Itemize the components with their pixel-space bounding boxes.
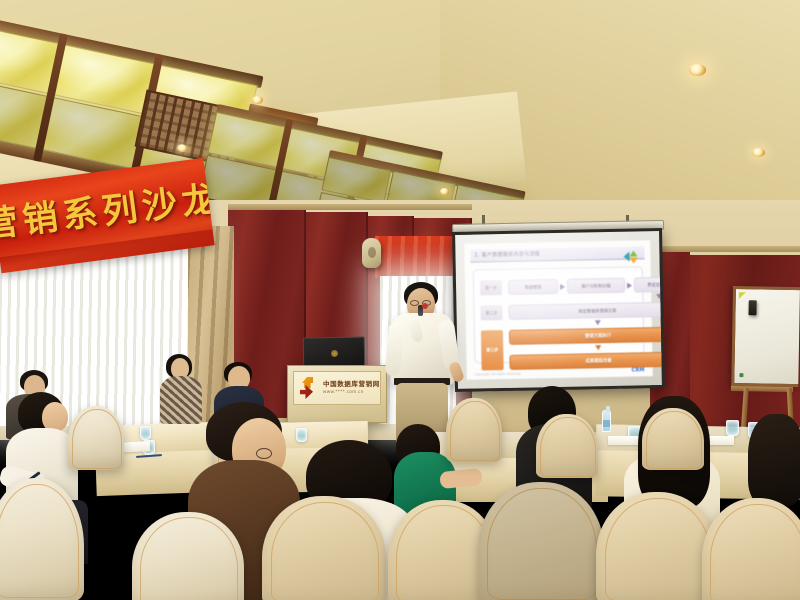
chair-mid-3	[446, 398, 502, 462]
flow-box-3-1: 营销方案执行	[509, 327, 665, 345]
stage-chip-3: 第三步	[481, 330, 504, 370]
recessed-downlight-1	[689, 64, 706, 76]
chair-mid-1	[68, 406, 124, 470]
flow-arrow-down-3	[595, 345, 601, 350]
lectern-sign-text: 中国数据库营销网	[323, 381, 380, 388]
water-bottle-1	[602, 410, 611, 432]
slide-brand-logo: CRM	[632, 367, 645, 373]
attendee-fr-hair	[748, 414, 800, 506]
projection-screen: 1. 客户数据服务内容与流程 第一步 数据整理 客户分析和分级 界定目标客户 第…	[452, 228, 665, 392]
lectern-sign-url: www.****.com.cn	[323, 390, 380, 395]
wall-speaker-icon	[362, 238, 381, 268]
flow-box-1-1: 数据整理	[508, 279, 558, 295]
slide-title-bar: 1. 客户数据服务内容与流程	[470, 246, 644, 262]
flow-box-1-3: 界定目标客户	[634, 277, 665, 293]
stage-chip-2: 第二步	[480, 305, 502, 320]
chair-front-6	[596, 492, 718, 600]
flow-box-1-2: 客户分析和分级	[567, 278, 625, 294]
chair-mid-4	[536, 414, 598, 478]
recessed-downlight-5	[440, 188, 449, 195]
presentation-slide: 1. 客户数据服务内容与流程 第一步 数据整理 客户分析和分级 界定目标客户 第…	[464, 240, 653, 380]
wall-crown-trim	[228, 204, 472, 210]
recessed-downlight-3	[252, 96, 263, 104]
flow-arrow-down-1	[656, 294, 662, 299]
wall-crown-trim-right	[648, 246, 800, 252]
water-glass-1	[140, 426, 151, 440]
lectern-sign: 中国数据库营销网 www.****.com.cn	[293, 371, 381, 405]
whiteboard-tray	[731, 386, 793, 392]
slide-title: 1. 客户数据服务内容与流程	[474, 250, 540, 258]
attendee-patterned-torso	[160, 376, 202, 424]
whiteboard-eraser-icon	[748, 300, 756, 315]
recessed-downlight-2	[752, 148, 765, 157]
flow-arrow-right-1	[560, 283, 565, 289]
lectern: 中国数据库营销网 www.****.com.cn	[287, 365, 387, 423]
red-valance	[375, 236, 460, 278]
laptop	[303, 336, 366, 367]
whiteboard	[731, 286, 800, 387]
conference-room-photo: 营销系列沙龙 1. 客户数据服务内容与流程 第一步 数据整理 客户分析和分级	[0, 0, 800, 600]
teal-triangle-logo-icon	[623, 250, 638, 263]
water-glass-5	[726, 420, 739, 436]
water-glass-3	[296, 428, 307, 442]
whiteboard-marker-icon	[739, 373, 743, 377]
chair-mid-5	[642, 408, 704, 470]
arrow-logo-icon	[299, 376, 319, 400]
slide-footer: Copyright All rights reserved.	[475, 372, 522, 377]
chair-front-5	[478, 482, 604, 600]
stage-chip-1: 第一步	[480, 280, 502, 295]
flow-arrow-right-2	[627, 282, 632, 288]
flow-arrow-down-2	[595, 320, 601, 325]
flow-box-2-1: 制定数据库营销方案	[508, 302, 665, 320]
whiteboard-corner-tag-icon	[739, 292, 746, 299]
attendee-bs-glasses-icon	[256, 448, 272, 459]
slide-flow-diagram: 第一步 数据整理 客户分析和分级 界定目标客户 第二步 制定数据库营销方案 第三…	[473, 266, 645, 363]
microphone-head-icon	[422, 303, 428, 309]
